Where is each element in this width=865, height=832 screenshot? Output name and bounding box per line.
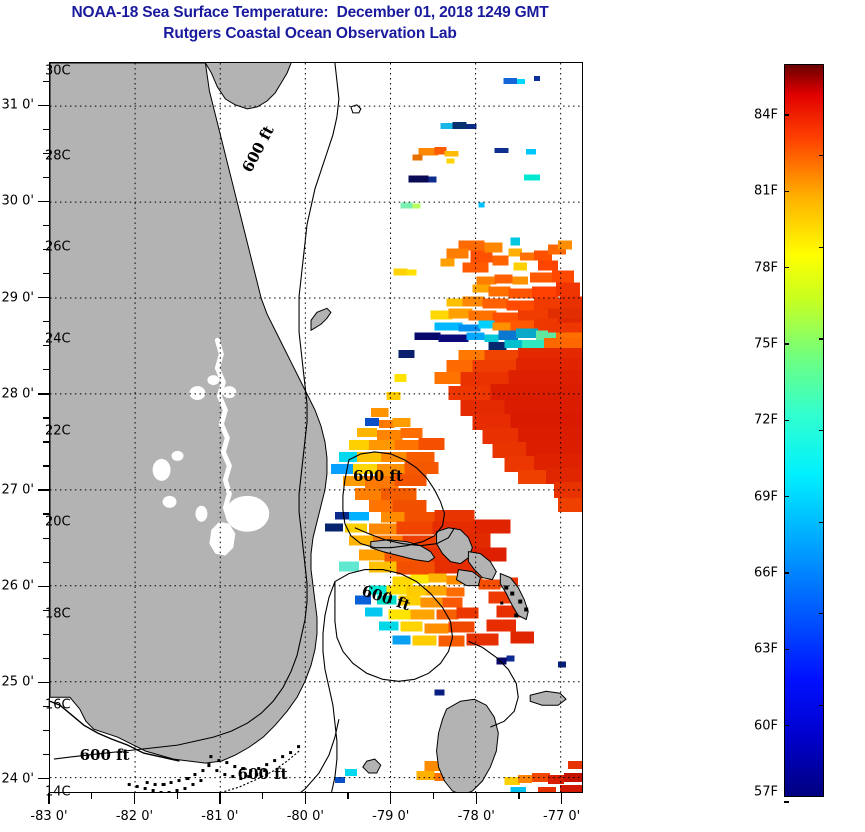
colorbar-celsius-label: 22C	[45, 423, 71, 438]
y-tick-minor	[43, 321, 49, 322]
colorbar-tick-left	[784, 267, 789, 268]
x-tick-minor	[262, 793, 263, 799]
x-tick-minor	[91, 793, 92, 799]
y-tick-minor	[43, 465, 49, 466]
contour-label-600ft: 600 ft	[80, 746, 130, 764]
y-tick-minor	[43, 417, 49, 418]
x-tick-major	[134, 793, 135, 804]
y-tick-major	[38, 393, 49, 394]
x-axis-label: -79 0'	[372, 809, 409, 824]
colorbar-celsius-label: 24C	[45, 331, 71, 346]
y-axis-label: 26 0'	[0, 579, 34, 594]
x-tick-major	[305, 793, 306, 804]
x-tick-minor	[518, 793, 519, 799]
y-axis-label: 24 0'	[0, 771, 34, 786]
page-title: NOAA-18 Sea Surface Temperature: Decembe…	[0, 2, 620, 23]
x-axis-label: -80 0'	[287, 809, 324, 824]
y-axis-label: 30 0'	[0, 194, 34, 209]
colorbar-fahrenheit-label: 75F	[736, 336, 778, 351]
sst-map-svg	[50, 63, 582, 792]
colorbar-tick-left	[784, 801, 789, 802]
y-tick-minor	[43, 634, 49, 635]
colorbar-gradient	[785, 65, 823, 796]
chart-title-block: NOAA-18 Sea Surface Temperature: Decembe…	[0, 2, 620, 44]
y-tick-minor	[43, 730, 49, 731]
y-tick-minor	[43, 369, 49, 370]
colorbar-celsius-label: 18C	[45, 606, 71, 621]
colorbar-tick-right	[819, 338, 824, 339]
colorbar-tick-left	[784, 725, 789, 726]
sst-map-panel[interactable]	[49, 62, 583, 793]
x-axis-label: -83 0'	[30, 809, 67, 824]
sst-colorbar[interactable]	[784, 64, 824, 797]
colorbar-celsius-label: 16C	[45, 698, 71, 713]
colorbar-tick-right	[819, 705, 824, 706]
colorbar-tick-left	[784, 114, 789, 115]
colorbar-fahrenheit-label: 81F	[736, 184, 778, 199]
x-tick-major	[561, 793, 562, 804]
colorbar-tick-right	[819, 613, 824, 614]
colorbar-tick-left	[784, 343, 789, 344]
y-tick-major	[38, 586, 49, 587]
y-axis-label: 29 0'	[0, 290, 34, 305]
y-tick-major	[38, 297, 49, 298]
y-tick-minor	[43, 562, 49, 563]
colorbar-fahrenheit-label: 63F	[736, 642, 778, 657]
colorbar-tick-left	[784, 191, 789, 192]
y-tick-major	[38, 201, 49, 202]
colorbar-fahrenheit-label: 72F	[736, 413, 778, 428]
colorbar-fahrenheit-label: 69F	[736, 489, 778, 504]
colorbar-celsius-label: 14C	[45, 785, 71, 800]
map-clip	[50, 63, 582, 792]
y-tick-minor	[43, 273, 49, 274]
x-axis-label: -82 0'	[116, 809, 153, 824]
y-axis-label: 31 0'	[0, 98, 34, 113]
y-tick-minor	[43, 177, 49, 178]
y-tick-minor	[43, 225, 49, 226]
colorbar-tick-left	[784, 420, 789, 421]
x-tick-major	[476, 793, 477, 804]
colorbar-fahrenheit-label: 66F	[736, 566, 778, 581]
x-tick-minor	[347, 793, 348, 799]
contour-label-600ft: 600 ft	[353, 467, 403, 485]
contour-label-600ft: 600 ft	[238, 765, 288, 783]
y-tick-major	[38, 778, 49, 779]
y-tick-minor	[43, 441, 49, 442]
colorbar-fahrenheit-label: 60F	[736, 718, 778, 733]
x-axis-label: -78 0'	[458, 809, 495, 824]
y-tick-major	[38, 105, 49, 106]
colorbar-celsius-label: 26C	[45, 240, 71, 255]
colorbar-celsius-label: 28C	[45, 148, 71, 163]
y-tick-minor	[43, 81, 49, 82]
y-tick-minor	[43, 754, 49, 755]
y-tick-major	[38, 682, 49, 683]
colorbar-tick-left	[784, 649, 789, 650]
colorbar-celsius-label: 30C	[45, 64, 71, 79]
y-axis-label: 28 0'	[0, 386, 34, 401]
x-tick-minor	[177, 793, 178, 799]
colorbar-tick-right	[819, 430, 824, 431]
y-tick-minor	[43, 538, 49, 539]
colorbar-tick-right	[819, 155, 824, 156]
x-tick-major	[219, 793, 220, 804]
x-axis-label: -81 0'	[201, 809, 238, 824]
colorbar-tick-left	[784, 496, 789, 497]
colorbar-tick-right	[819, 522, 824, 523]
colorbar-tick-right	[819, 247, 824, 248]
x-axis-label: -77 0'	[543, 809, 580, 824]
y-tick-minor	[43, 658, 49, 659]
colorbar-tick-left	[784, 572, 789, 573]
colorbar-celsius-label: 20C	[45, 515, 71, 530]
colorbar-fahrenheit-label: 84F	[736, 107, 778, 122]
y-axis-label: 27 0'	[0, 483, 34, 498]
colorbar-fahrenheit-label: 57F	[736, 785, 778, 800]
y-tick-minor	[43, 129, 49, 130]
x-tick-major	[390, 793, 391, 804]
y-tick-major	[38, 489, 49, 490]
x-tick-minor	[433, 793, 434, 799]
page-subtitle: Rutgers Coastal Ocean Observation Lab	[0, 23, 620, 44]
y-axis-label: 25 0'	[0, 675, 34, 690]
colorbar-fahrenheit-label: 78F	[736, 260, 778, 275]
